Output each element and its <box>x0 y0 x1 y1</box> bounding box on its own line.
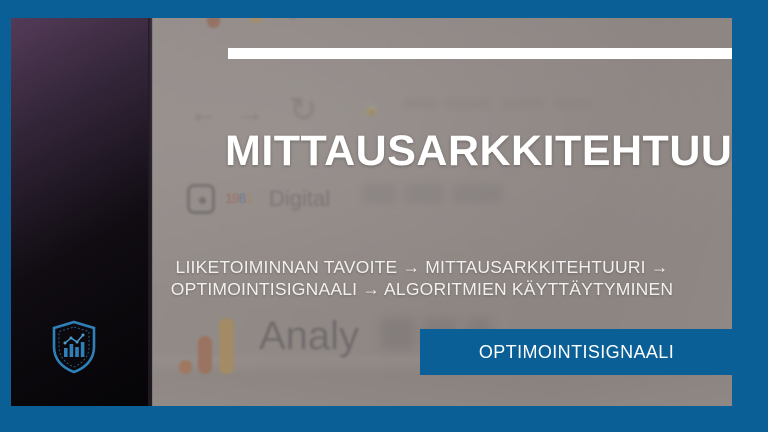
accent-bar <box>228 48 732 59</box>
cta-button[interactable]: OPTIMOINTISIGNAALI <box>420 329 732 375</box>
slide-canvas: ← → ↻ 🔒 1981 Digital Analy <box>0 0 768 432</box>
subtitle-text: LIIKETOIMINNAN TAVOITE → MITTAUSARKKITEH… <box>142 256 702 301</box>
slide-content-area: ← → ↻ 🔒 1981 Digital Analy <box>11 18 732 406</box>
left-dark-panel <box>11 18 152 406</box>
page-title: MITTAUSARKKITEHTUURI <box>225 130 732 174</box>
shield-bar-chart-icon <box>51 320 97 374</box>
